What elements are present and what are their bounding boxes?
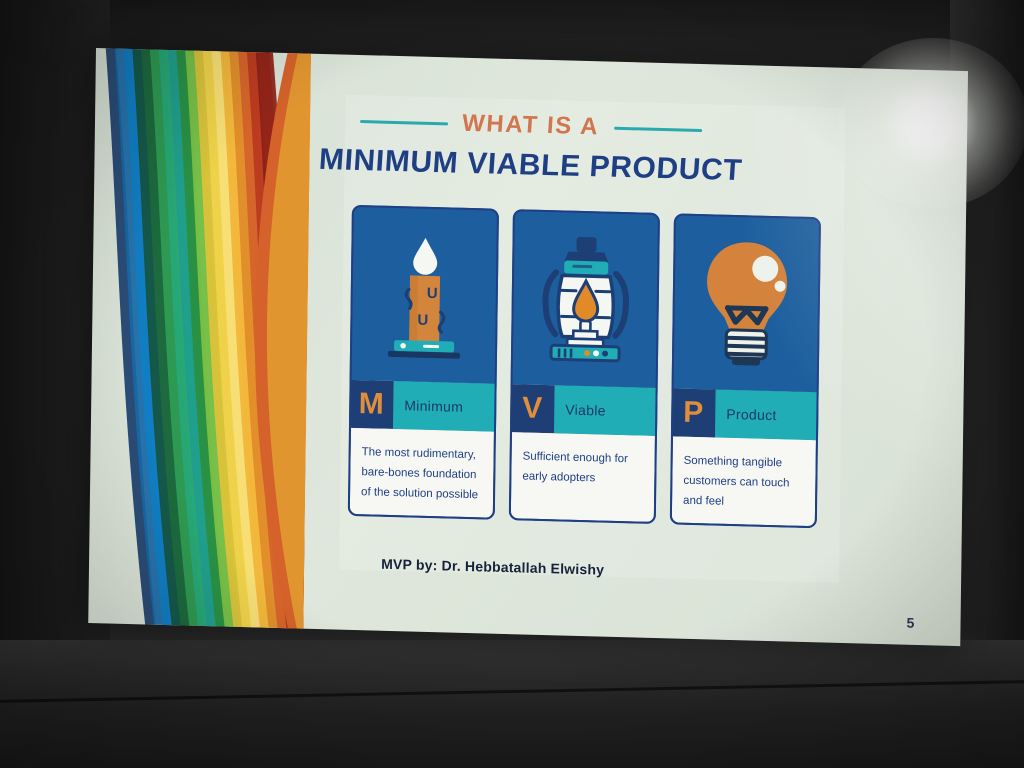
card-letter-v: V — [510, 384, 555, 433]
slide-page-number: 5 — [906, 615, 914, 631]
rule-right-icon — [614, 126, 702, 131]
mvp-card-viable[interactable]: V Viable Sufficient enough for early ado… — [509, 209, 660, 524]
card-description-minimum: The most rudimentary, bare-bones foundat… — [348, 428, 496, 520]
card-label-viable: Viable — [554, 385, 658, 436]
lightbulb-icon — [693, 232, 799, 373]
svg-text:U: U — [417, 311, 428, 328]
slide-eyebrow: WHAT IS A — [462, 110, 601, 142]
card-description-product: Something tangible customers can touch a… — [670, 436, 818, 528]
projection-scene: WHAT IS A MINIMUM VIABLE PRODUCT — [0, 0, 1024, 768]
icon-pane-product — [672, 213, 821, 392]
projected-slide: WHAT IS A MINIMUM VIABLE PRODUCT — [88, 48, 968, 646]
card-label-product: Product — [715, 390, 819, 441]
slide-canvas: WHAT IS A MINIMUM VIABLE PRODUCT — [88, 48, 968, 646]
wall-lower — [0, 640, 1024, 768]
letter-row-viable: V Viable — [510, 384, 658, 436]
card-letter-m: M — [349, 380, 394, 429]
icon-pane-viable — [511, 209, 660, 388]
candle-icon: U U — [375, 228, 473, 361]
rule-left-icon — [361, 120, 449, 125]
letter-row-minimum: M Minimum — [349, 380, 497, 432]
letter-row-product: P Product — [671, 388, 819, 440]
card-letter-p: P — [671, 388, 716, 437]
mvp-card-product[interactable]: P Product Something tangible customers c… — [670, 213, 821, 528]
svg-text:U: U — [426, 284, 437, 301]
oil-lantern-icon — [532, 231, 638, 366]
mvp-card-row: U U M Minimum The most rudimentary, bare… — [348, 205, 822, 529]
card-label-minimum: Minimum — [393, 381, 497, 432]
icon-pane-minimum: U U — [350, 205, 499, 384]
mvp-card-minimum[interactable]: U U M Minimum The most rudimentary, bare… — [348, 205, 499, 520]
card-description-viable: Sufficient enough for early adopters — [509, 432, 657, 524]
